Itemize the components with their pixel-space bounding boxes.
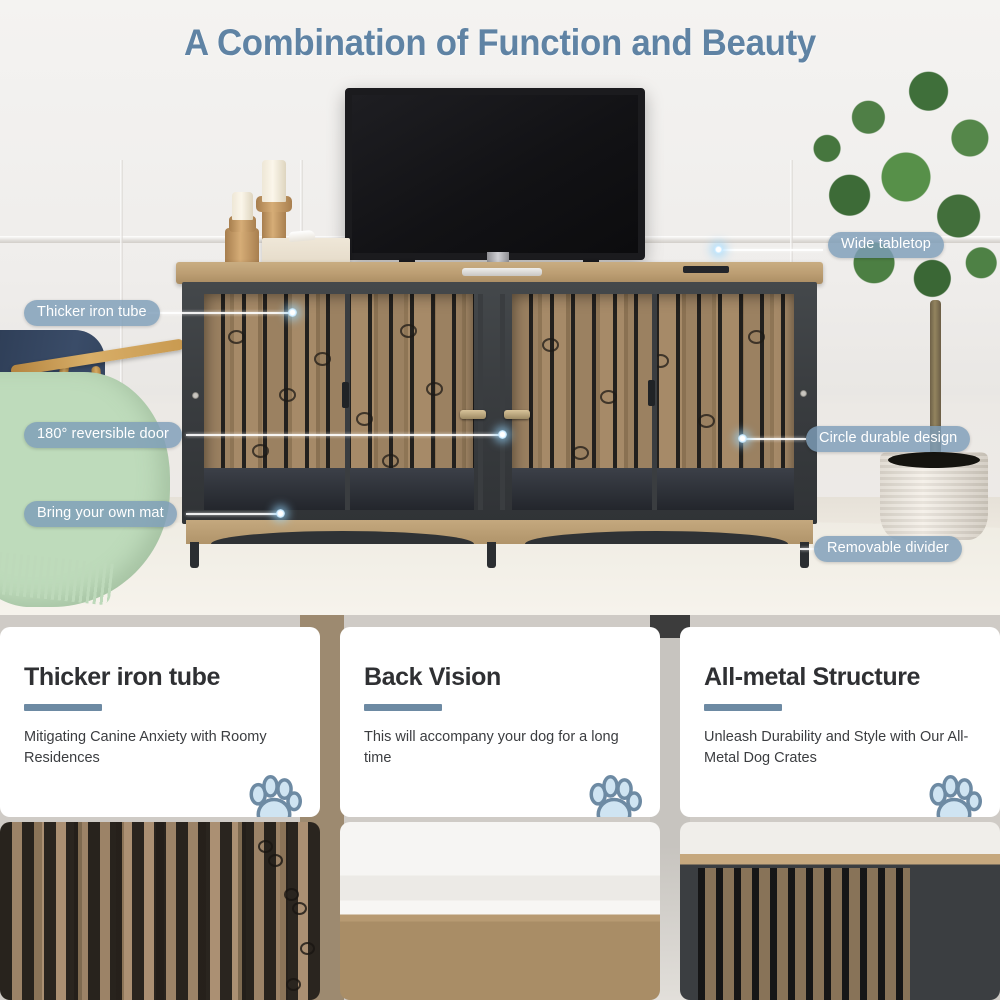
page-title: A Combination of Function and Beauty (30, 22, 970, 64)
hero-scene: Thicker iron tube 180° reversible door B… (0, 0, 1000, 615)
potted-ficus-tree (812, 60, 1000, 320)
paw-print-icon (246, 775, 302, 817)
paw-print-icon (586, 775, 642, 817)
crate-bay-left (204, 294, 474, 510)
infographic-page: Thicker iron tube 180° reversible door B… (0, 0, 1000, 1000)
removable-divider (500, 294, 505, 510)
feature-card-back-vision[interactable]: Back Vision This will accompany your dog… (340, 627, 660, 817)
door-latch[interactable] (460, 410, 486, 419)
card-divider (24, 704, 102, 711)
callout-leader-line (148, 312, 294, 314)
feature-card-thicker-iron-tube[interactable]: Thicker iron tube Mitigating Canine Anxi… (0, 627, 320, 817)
frame-screw (192, 392, 199, 399)
door-latch[interactable] (504, 410, 530, 419)
door-hinge (648, 380, 655, 406)
callout-removable-divider[interactable]: Removable divider (814, 536, 962, 562)
crate-mat (204, 468, 474, 510)
callout-thicker-iron-tube[interactable]: Thicker iron tube (24, 300, 160, 326)
callout-leader-line (186, 513, 282, 515)
removable-divider (478, 294, 483, 510)
card-divider (704, 704, 782, 711)
photo-wood-panel-iron-frame (0, 822, 320, 1000)
pillar-candle (262, 160, 286, 202)
feature-cards-section: Thicker iron tube Mitigating Canine Anxi… (0, 615, 1000, 1000)
callout-leader-line (742, 438, 806, 440)
card-body: This will accompany your dog for a long … (364, 727, 632, 769)
callout-leader-line (186, 434, 504, 436)
remote-control (683, 266, 729, 273)
callout-leader-line (717, 249, 823, 251)
callout-bring-your-own-mat[interactable]: Bring your own mat (24, 501, 177, 527)
callout-circle-durable-design[interactable]: Circle durable design (806, 426, 970, 452)
callout-wide-tabletop[interactable]: Wide tabletop (828, 232, 944, 258)
card-body: Mitigating Canine Anxiety with Roomy Res… (24, 727, 292, 769)
base-apron (186, 520, 813, 544)
card-divider (364, 704, 442, 711)
door-hinge (342, 382, 349, 408)
callout-anchor-dot (288, 308, 297, 317)
card-body: Unleash Durability and Style with Our Al… (704, 727, 972, 769)
card-heading: All-metal Structure (704, 663, 976, 692)
frame-screw (800, 390, 807, 397)
callout-anchor-dot (714, 245, 723, 254)
photo-corner-view-clock-plant (680, 822, 1000, 1000)
tv-screen (345, 88, 645, 260)
crate-leg (800, 542, 809, 568)
photo-cabinet-back-panel (340, 822, 660, 1000)
crate-leg (190, 542, 199, 568)
callout-anchor-dot (276, 509, 285, 518)
pot-soil (888, 452, 980, 468)
card-heading: Back Vision (364, 663, 636, 692)
callout-anchor-dot (498, 430, 507, 439)
callout-anchor-dot (738, 434, 747, 443)
card-heading: Thicker iron tube (24, 663, 296, 692)
feature-card-all-metal-structure[interactable]: All-metal Structure Unleash Durability a… (680, 627, 1000, 817)
paw-print-icon (926, 775, 982, 817)
pillar-candle (232, 192, 253, 220)
callout-reversible-door[interactable]: 180° reversible door (24, 422, 182, 448)
crate-leg (487, 542, 496, 568)
tv-display (352, 95, 638, 253)
remote-control (462, 268, 542, 276)
